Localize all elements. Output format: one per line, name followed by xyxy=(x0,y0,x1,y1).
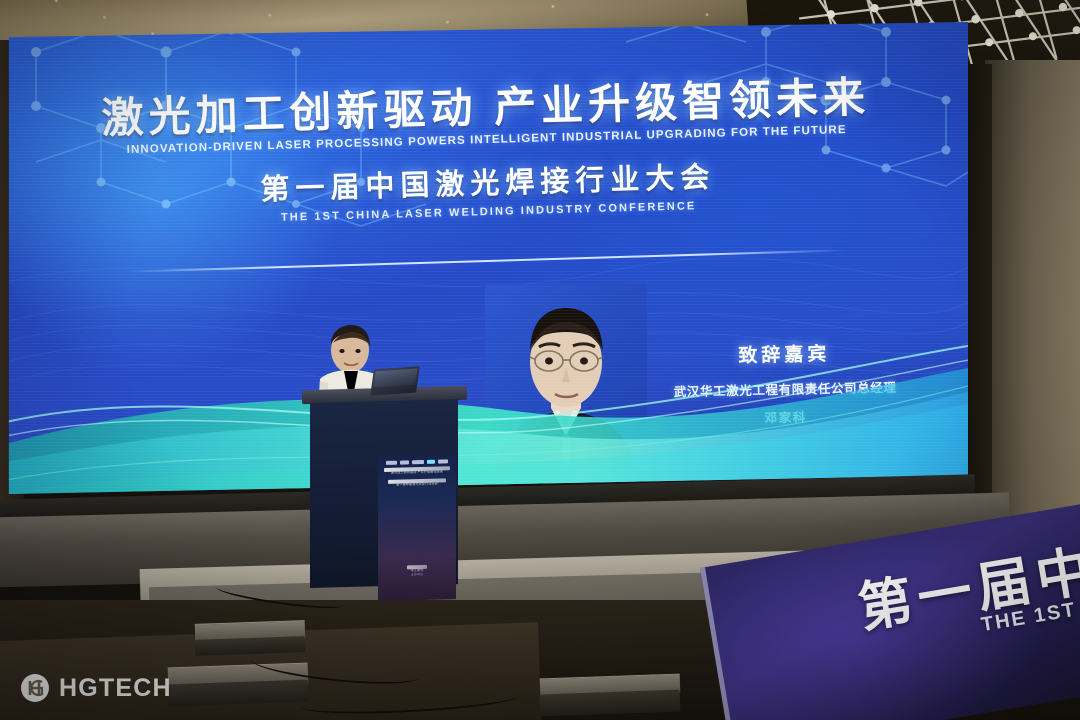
screenshot-root: 激光加工创新驱动 产业升级智领未来 INNOVATION-DRIVEN LASE… xyxy=(0,0,1080,720)
hgtech-logo-icon xyxy=(20,673,50,703)
screen-headline-group: 激光加工创新驱动 产业升级智领未来 INNOVATION-DRIVEN LASE… xyxy=(6,71,968,232)
hgtech-watermark-text: HGTECH xyxy=(59,674,172,703)
podium-lectern: 激光加工创新驱动 产业升级智领未来 第一届中国激光焊接行业大会 华工激光 主办单… xyxy=(302,386,467,588)
hgtech-watermark: HGTECH xyxy=(20,673,172,703)
led-backdrop-screen: 激光加工创新驱动 产业升级智领未来 INNOVATION-DRIVEN LASE… xyxy=(6,22,968,494)
laptop-screen xyxy=(373,368,417,387)
podium-body: 激光加工创新驱动 产业升级智领未来 第一届中国激光焊接行业大会 华工激光 主办单… xyxy=(310,399,458,588)
cyan-wave-graphic xyxy=(6,324,968,494)
sponsor-logo-4 xyxy=(427,460,435,464)
sponsor-logo-1 xyxy=(386,461,397,465)
podium-laptop xyxy=(370,366,420,396)
podium-footer-line xyxy=(407,565,427,570)
podium-branding-panel: 激光加工创新驱动 产业升级智领未来 第一届中国激光焊接行业大会 华工激光 主办单… xyxy=(378,454,456,601)
sponsor-logo-3 xyxy=(412,460,424,464)
podium-panel-title-cn: 激光加工创新驱动 产业升级智领未来 xyxy=(378,470,456,476)
podium-sponsor-logos xyxy=(378,459,456,465)
podium-panel-subtitle-cn: 第一届中国激光焊接行业大会 xyxy=(378,482,456,488)
sponsor-logo-2 xyxy=(400,460,409,464)
podium-panel-footer-2: 主办单位 xyxy=(378,572,456,578)
sponsor-logo-5 xyxy=(438,459,448,463)
